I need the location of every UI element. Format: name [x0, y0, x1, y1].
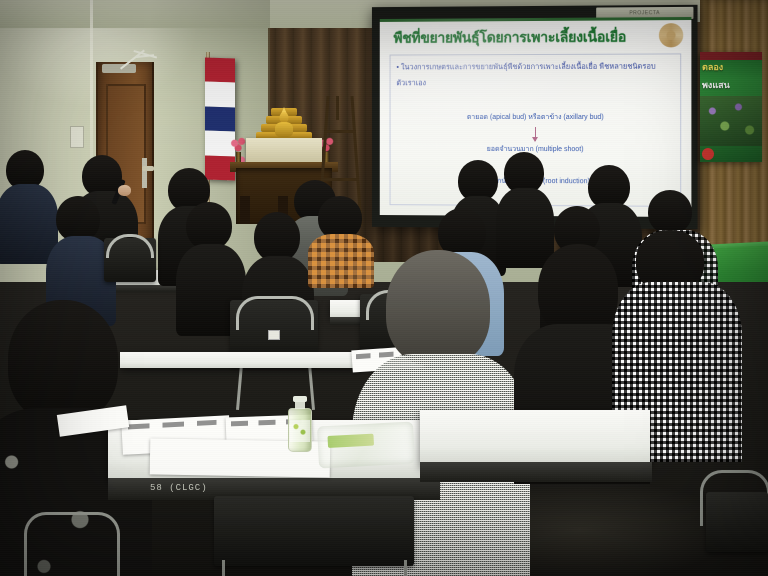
flow-arrow-1-icon — [534, 127, 535, 141]
table-row-2 — [120, 352, 360, 368]
attendee-mid-1 — [46, 196, 108, 316]
plastic-bag[interactable] — [317, 422, 415, 469]
seminar-room-photo: PROJECTA พืชที่ขยายพันธุ์โดยการเพาะเลี้ย… — [0, 0, 768, 576]
shrine-tiers — [256, 104, 312, 140]
banner-line-1: ตลอง — [702, 60, 723, 74]
attendee-mid-2 — [176, 202, 238, 326]
slide-bullet-text: • ในวงการเกษตรและการขยายพันธุ์พืชด้วยการ… — [396, 60, 676, 74]
banner-line-2: พงแสน — [702, 78, 730, 92]
red-seal-icon — [702, 148, 714, 160]
foreground-table-right — [420, 410, 650, 466]
hand — [118, 185, 131, 196]
bottle-cap[interactable] — [293, 396, 307, 402]
water-bottle[interactable] — [288, 396, 312, 452]
chair-rim-mid-1 — [236, 296, 314, 330]
chair-back-foreground[interactable] — [214, 496, 414, 566]
foreground-table-right-edge — [420, 462, 652, 482]
antenna-icon — [120, 46, 166, 76]
slide-top-band — [380, 17, 692, 22]
slide-title: พืชที่ขยายพันธุ์โดยการเพาะเลี้ยงเนื้อเยื… — [393, 26, 650, 49]
light-switch[interactable] — [70, 126, 84, 148]
table-edge-label: 58 (CLGC) — [150, 483, 208, 493]
bottle-label — [290, 420, 310, 442]
chair-rim-left — [24, 512, 120, 576]
wall-banner-poster: ตลอง พงแสน — [700, 52, 762, 162]
slide-bullet-text-line2: ตัวเราเอง — [396, 77, 676, 91]
bag-contents — [327, 434, 374, 448]
chair-tag-mid-1 — [268, 330, 280, 340]
banner-plant-photo — [700, 96, 762, 146]
chair-leg — [222, 560, 225, 576]
door-handle[interactable] — [142, 166, 154, 171]
buddha-statue — [275, 112, 293, 136]
rose-seal-icon — [659, 23, 683, 47]
flow-step-1: ตายอด (apical bud) หรือตาข้าง (axillary … — [391, 113, 683, 123]
bottle-neck — [295, 401, 305, 409]
chair-leg — [404, 560, 407, 576]
banner-top-strip — [700, 52, 762, 60]
chair-back-right[interactable] — [706, 492, 768, 552]
door-strike-plate — [142, 158, 147, 188]
